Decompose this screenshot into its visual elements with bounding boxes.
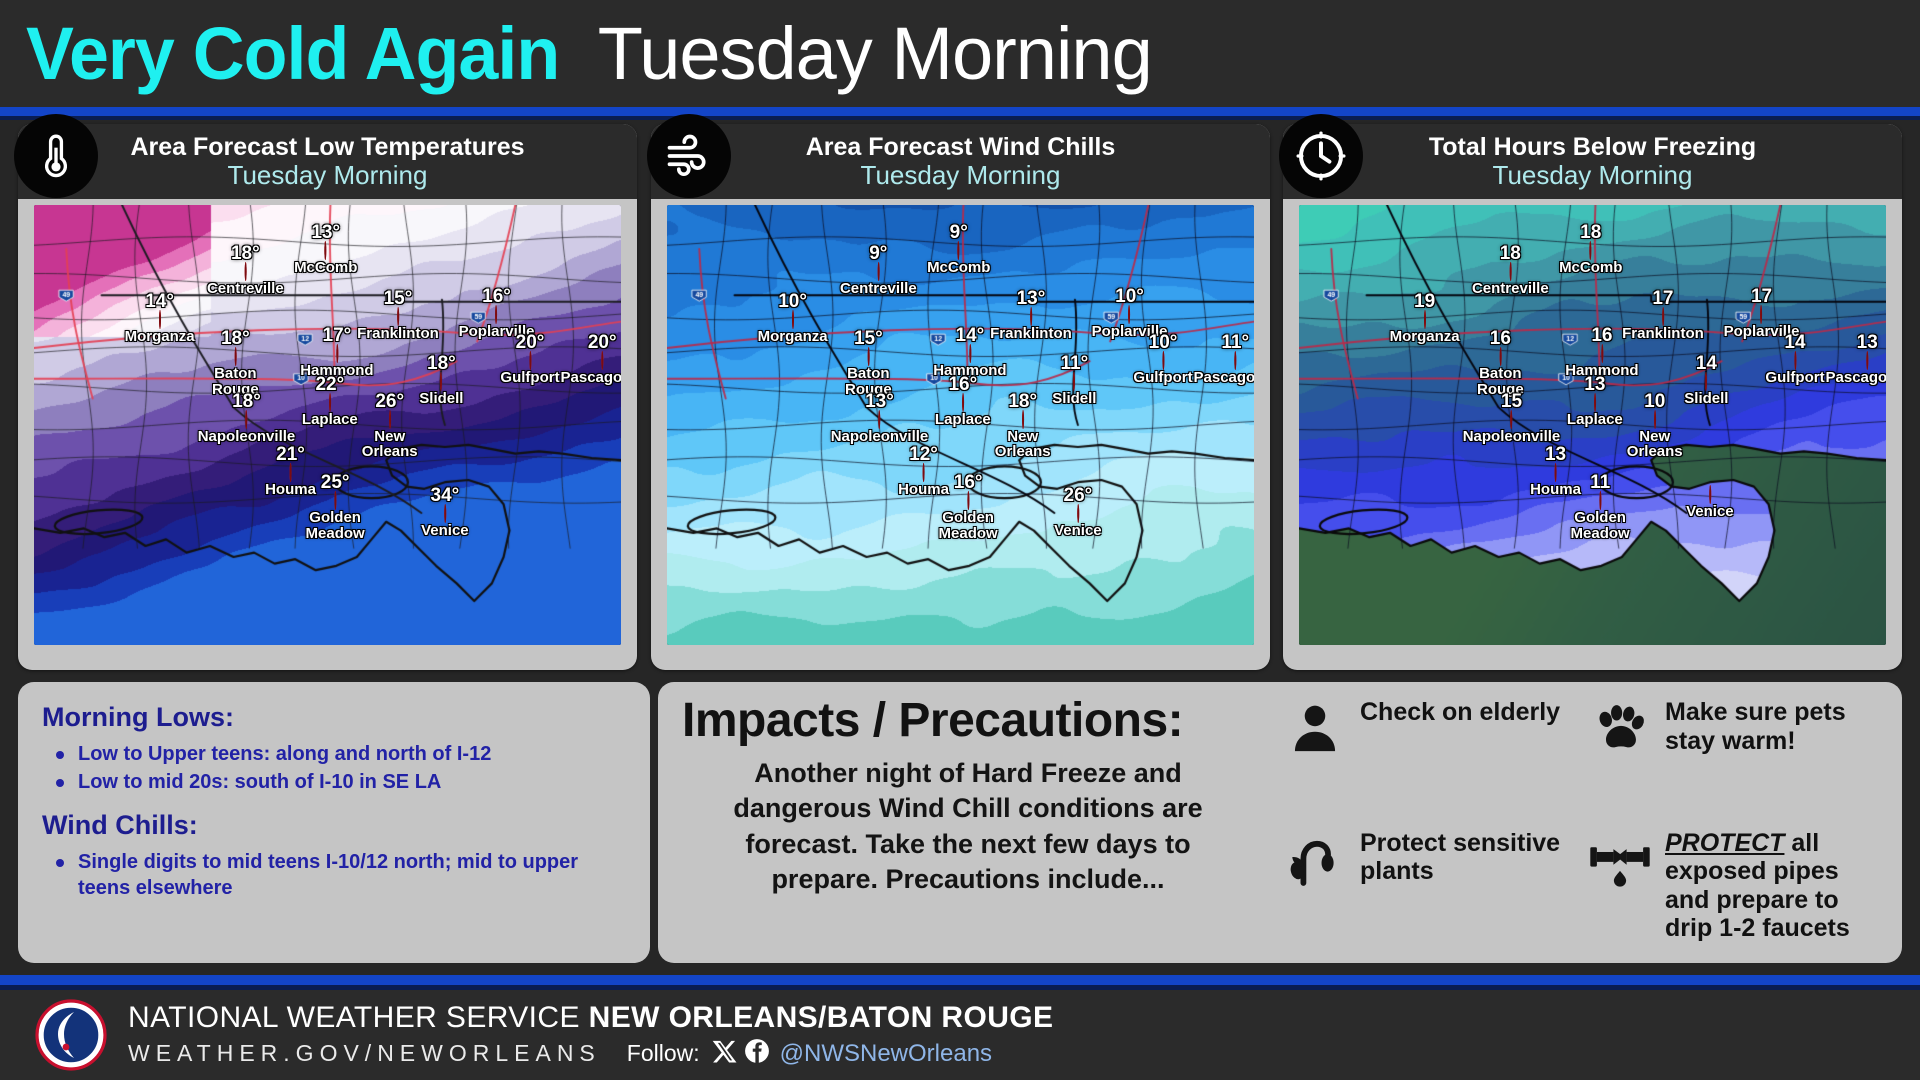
city-dot [792,310,794,329]
city-name: Centreville [207,281,284,296]
city-dot [1510,410,1512,429]
city-dot [1162,351,1164,370]
city-name: NewOrleans [362,429,418,460]
city-marker: 16BatonRouge [1477,329,1524,397]
city-value: 26° [1054,486,1102,505]
headline-accent: Very Cold Again [26,17,559,91]
city-marker: 15Napoleonville [1463,392,1561,444]
panel-title: Area Forecast Wind Chills [806,134,1116,161]
city-name: GoldenMeadow [306,510,365,541]
footer-website-link[interactable]: WEATHER.GOV/NEWORLEANS [128,1040,601,1067]
list-item: Low to mid 20s: south of I-10 in SE LA [48,769,626,795]
city-value: 12° [898,445,949,464]
city-marker: 16°Poplarville [459,287,535,339]
city-dot [389,410,391,429]
city-value: 18 [1472,244,1549,263]
panel-title: Total Hours Below Freezing [1429,134,1756,161]
impacts-text-column: Impacts / Precautions: Another night of … [658,682,1278,963]
city-dot [1030,307,1032,326]
city-value: 15 [1463,392,1561,411]
panel-subtitle: Tuesday Morning [1493,161,1693,190]
city-value: 14° [125,292,195,311]
city-marker: 14Slidell [1684,354,1728,406]
city-name: Napoleonville [1463,429,1561,444]
city-name: Morganza [125,329,195,344]
city-name: GoldenMeadow [1571,510,1630,541]
precaution-pets-warm: Make sure pets stay warm! [1587,696,1886,825]
map-wind-chills[interactable]: 9°McComb9°Centreville10°Morganza13°Frank… [667,205,1254,645]
impacts-title: Impacts / Precautions: [682,696,1254,746]
city-marker: 17Poplarville [1724,287,1800,339]
footer-bar: NATIONAL WEATHER SERVICE NEW ORLEANS/BAT… [0,990,1920,1080]
city-marker: 20°Gulfport [500,333,559,385]
info-heading-wind-chills: Wind Chills: [42,810,626,841]
info-heading-morning-lows: Morning Lows: [42,702,626,733]
city-value: 16° [939,473,998,492]
city-value: 10 [1627,392,1683,411]
city-dot [967,491,969,510]
precaution-protect-pipes: PROTECT all exposed pipes and prepare to… [1587,827,1886,956]
city-name: Gulfport [1765,370,1824,385]
city-name: McComb [927,260,990,275]
city-marker: 10NewOrleans [1627,392,1683,460]
panel-header: Area Forecast Low Temperatures Tuesday M… [18,124,637,199]
city-value: 17 [1622,289,1704,308]
impacts-precautions-panel: Impacts / Precautions: Another night of … [658,682,1902,963]
city-name: McComb [294,260,357,275]
city-dot [1077,504,1079,523]
city-value: 18° [198,392,296,411]
impacts-body: Another night of Hard Freeze and dangero… [682,756,1254,896]
map-low-temperatures[interactable]: 13°McComb18°Centreville14°Morganza15°Fra… [34,205,621,645]
city-marker: 18°Centreville [207,244,284,296]
city-marker: 18°NewOrleans [995,392,1051,460]
city-name: Laplace [302,412,358,427]
city-marker: 18°BatonRouge [212,329,259,397]
headline-rest: Tuesday Morning [598,17,1152,91]
city-value: 17 [1724,287,1800,306]
city-dot [325,241,327,260]
city-marker: 17°Hammond [300,326,373,378]
city-value: 18° [207,244,284,263]
panel-hours-below-freezing: Total Hours Below Freezing Tuesday Morni… [1283,124,1902,670]
city-name: NewOrleans [1627,429,1683,460]
city-name: Centreville [840,281,917,296]
clock-icon [1279,114,1363,198]
person-icon [1282,696,1348,758]
city-value: 16° [935,375,991,394]
city-name: GoldenMeadow [939,510,998,541]
city-name: Gulfport [1133,370,1192,385]
city-marker: 13°McComb [294,223,357,275]
city-value: 14° [933,326,1006,345]
city-dot [234,347,236,366]
city-dot [1709,485,1711,504]
city-name: Napoleonville [198,429,296,444]
city-name: Napoleonville [831,429,929,444]
city-dot [1509,262,1511,281]
map-city-labels: 18McComb18Centreville19Morganza17Frankli… [1299,205,1886,645]
map-city-labels: 9°McComb9°Centreville10°Morganza13°Frank… [667,205,1254,645]
city-dot [334,491,336,510]
city-dot [969,344,971,363]
plant-icon [1282,827,1348,889]
city-marker: 26°Venice [1054,486,1102,538]
city-marker: 22°Laplace [302,375,358,427]
footer-text-block: NATIONAL WEATHER SERVICE NEW ORLEANS/BAT… [128,1001,1053,1069]
city-dot [1705,372,1707,391]
city-name: Morganza [1390,329,1460,344]
list-item: Low to Upper teens: along and north of I… [48,741,626,767]
header-divider-shadow [0,116,1920,120]
city-dot [1234,351,1236,370]
city-marker: 13Pascagoula [1826,333,1886,385]
footer-social-icons [712,1038,770,1069]
city-marker: 11GoldenMeadow [1571,473,1630,541]
city-marker: 34°Venice [421,486,469,538]
city-dot [329,393,331,412]
panel-low-temperatures: Area Forecast Low Temperatures Tuesday M… [18,124,637,670]
city-dot [1590,241,1592,260]
city-value: 21° [265,445,316,464]
city-dot [529,351,531,370]
city-value: 14 [1765,333,1824,352]
city-value: 20° [561,333,621,352]
precaution-emphasis: PROTECT [1665,829,1784,857]
city-name: NewOrleans [995,429,1051,460]
city-value: 13° [990,289,1072,308]
city-value: 16° [459,287,535,306]
city-dot [1594,393,1596,412]
city-dot [444,504,446,523]
city-dot [877,262,879,281]
city-dot [1599,491,1601,510]
map-hours-below-freezing[interactable]: 18McComb18Centreville19Morganza17Frankli… [1299,205,1886,645]
city-value: 9° [840,244,917,263]
city-value: 18° [212,329,259,348]
city-dot [1866,351,1868,370]
city-dot [867,347,869,366]
x-icon[interactable] [712,1038,738,1069]
city-marker: 10°Gulfport [1133,333,1192,385]
header-divider [0,107,1920,116]
city-dot [1499,347,1501,366]
city-marker: 9°Centreville [840,244,917,296]
city-value: 13° [831,392,929,411]
facebook-icon[interactable] [744,1038,770,1069]
city-dot [1761,305,1763,324]
city-value: 15° [845,329,892,348]
city-dot [440,372,442,391]
city-dot [601,351,603,370]
city-marker: 14°Hammond [933,326,1006,378]
footer-agency-prefix: NATIONAL WEATHER SERVICE [128,1001,589,1034]
city-value: 26° [362,392,418,411]
city-marker: 10°Poplarville [1092,287,1168,339]
precaution-label: Protect sensitive plants [1360,827,1581,886]
panel-header: Area Forecast Wind Chills Tuesday Mornin… [651,124,1270,199]
city-value: 11° [1052,354,1096,373]
city-value: 9° [927,223,990,242]
precaution-label: Make sure pets stay warm! [1665,696,1886,755]
city-name: Laplace [935,412,991,427]
city-value: 19 [1390,292,1460,311]
panel-wind-chills: Area Forecast Wind Chills Tuesday Mornin… [651,124,1270,670]
city-value: 13 [1567,375,1623,394]
city-marker: 18°Slidell [419,354,463,406]
city-marker: 20°Pascagoula [561,333,621,385]
city-value: 13 [1826,333,1886,352]
precaution-check-elderly: Check on elderly [1282,696,1581,825]
city-name: Venice [1054,523,1102,538]
footer-agency-line: NATIONAL WEATHER SERVICE NEW ORLEANS/BAT… [128,1001,1053,1034]
city-value: 10° [758,292,828,311]
precaution-label: PROTECT all exposed pipes and prepare to… [1665,827,1886,943]
city-marker: 13Laplace [1567,375,1623,427]
city-dot [1424,310,1426,329]
panel-title: Area Forecast Low Temperatures [130,134,524,161]
map-city-labels: 13°McComb18°Centreville14°Morganza15°Fra… [34,205,621,645]
city-value: 10° [1092,287,1168,306]
city-marker: 18McComb [1559,223,1622,275]
city-value: 15° [357,289,439,308]
city-marker: 16°Laplace [935,375,991,427]
city-marker: 19Morganza [1390,292,1460,344]
city-value: 20° [500,333,559,352]
footer-agency-office: NEW ORLEANS/BATON ROUGE [589,1001,1054,1034]
city-name: Venice [421,523,469,538]
city-value: 14 [1684,354,1728,373]
list-item: Single digits to mid teens I-10/12 north… [48,849,626,902]
city-value: 22° [302,375,358,394]
city-dot [1022,410,1024,429]
footer-divider [0,975,1920,985]
city-marker: 18°Napoleonville [198,392,296,444]
city-name: Pascagoula [1194,370,1254,385]
footer-links-line: WEATHER.GOV/NEWORLEANS Follow: [128,1038,1053,1069]
city-marker: 9°McComb [927,223,990,275]
city-name: Morganza [758,329,828,344]
city-value: 18° [419,354,463,373]
city-marker: 14Gulfport [1765,333,1824,385]
precautions-grid: Check on elderly Make sure pets stay war… [1278,682,1902,963]
city-value: 16 [1565,326,1638,345]
city-dot [878,410,880,429]
precaution-protect-plants: Protect sensitive plants [1282,827,1581,956]
city-marker: 10°Morganza [758,292,828,344]
city-marker: Venice [1686,486,1734,519]
city-dot [1073,372,1075,391]
city-marker: 14°Morganza [125,292,195,344]
paw-print-icon [1587,696,1653,758]
thermometer-icon [14,114,98,198]
city-value: 16 [1477,329,1524,348]
city-dot [245,410,247,429]
footer-social-handle[interactable]: @NWSNewOrleans [780,1040,992,1068]
city-dot [244,262,246,281]
city-value: 34° [421,486,469,505]
city-name: Gulfport [500,370,559,385]
city-name: Centreville [1472,281,1549,296]
city-name: Slidell [1052,391,1096,406]
city-dot [1129,305,1131,324]
city-value: 11° [1194,333,1254,352]
city-value: 18 [1559,223,1622,242]
city-value: 13° [294,223,357,242]
city-name: Slidell [1684,391,1728,406]
city-name: Slidell [419,391,463,406]
city-value: 17° [300,326,373,345]
city-name: Laplace [1567,412,1623,427]
panel-subtitle: Tuesday Morning [228,161,428,190]
city-marker: 11°Slidell [1052,354,1096,406]
city-value: 10° [1133,333,1192,352]
city-marker: 25°GoldenMeadow [306,473,365,541]
footer-follow-label: Follow: [627,1040,700,1067]
city-dot [290,463,292,482]
city-value: 25° [306,473,365,492]
morning-lows-bullet-list: Low to Upper teens: along and north of I… [48,741,626,796]
city-value: 13 [1530,445,1581,464]
city-dot [1555,463,1557,482]
panel-subtitle: Tuesday Morning [861,161,1061,190]
city-name: Venice [1686,504,1734,519]
city-marker: 13°Napoleonville [831,392,929,444]
city-marker: 11°Pascagoula [1194,333,1254,385]
city-value: 11 [1571,473,1630,492]
morning-lows-info-panel: Morning Lows: Low to Upper teens: along … [18,682,650,963]
header-banner: Very Cold Again Tuesday Morning [0,0,1920,107]
city-marker: 15°BatonRouge [845,329,892,397]
city-marker: 18Centreville [1472,244,1549,296]
wind-chills-bullet-list: Single digits to mid teens I-10/12 north… [48,849,626,902]
broken-pipe-icon [1587,827,1653,889]
city-name: McComb [1559,260,1622,275]
city-marker: 26°NewOrleans [362,392,418,460]
city-dot [1601,344,1603,363]
city-dot [1654,410,1656,429]
panel-header: Total Hours Below Freezing Tuesday Morni… [1283,124,1902,199]
city-dot [962,393,964,412]
city-dot [1794,351,1796,370]
city-name: Pascagoula [1826,370,1886,385]
city-dot [159,310,161,329]
city-dot [496,305,498,324]
city-value: 18° [995,392,1051,411]
precaution-label: Check on elderly [1360,696,1560,727]
nws-seal-icon [34,998,108,1072]
city-dot [923,463,925,482]
city-dot [336,344,338,363]
city-dot [397,307,399,326]
city-name: Pascagoula [561,370,621,385]
city-dot [1662,307,1664,326]
city-marker: 16Hammond [1565,326,1638,378]
city-dot [958,241,960,260]
city-marker: 16°GoldenMeadow [939,473,998,541]
wind-icon [647,114,731,198]
